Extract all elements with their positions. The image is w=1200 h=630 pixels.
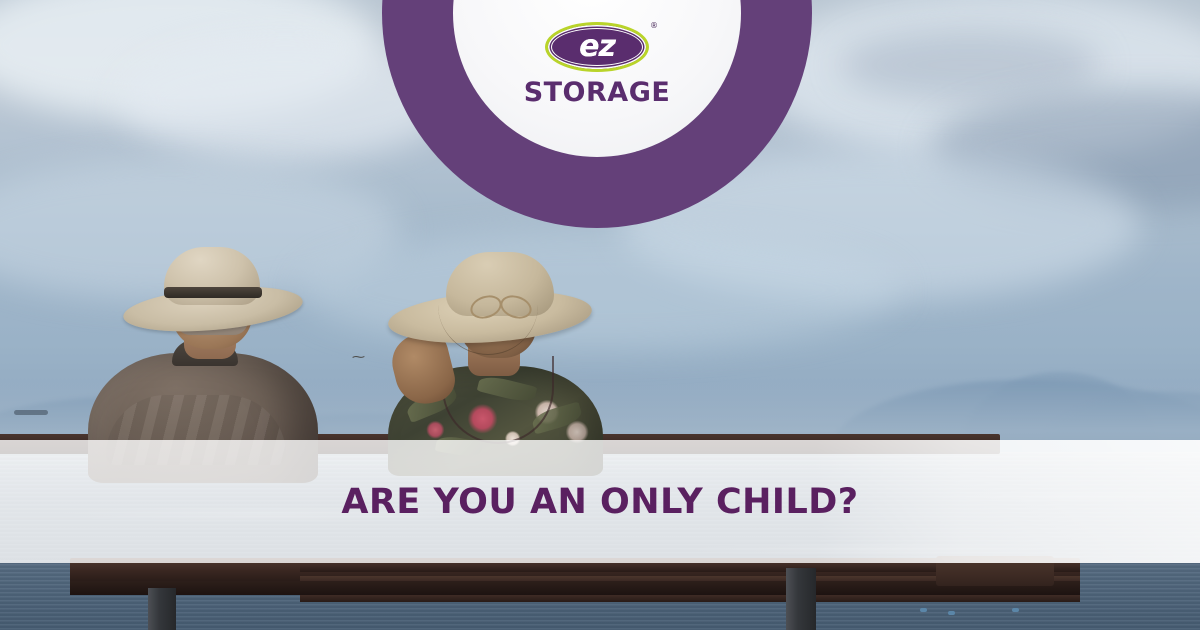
cloud-icon — [760, 0, 1200, 160]
bench-leg — [786, 568, 816, 630]
man-hat-band — [164, 287, 262, 298]
bench-bolt — [948, 611, 955, 615]
bench-leg — [148, 588, 176, 630]
distant-boat — [14, 410, 48, 415]
headline-banner: ARE YOU AN ONLY CHILD? — [0, 440, 1200, 563]
cloud-icon — [0, 0, 380, 120]
cloud-icon — [840, 30, 1100, 100]
seagull-icon — [352, 352, 378, 361]
bench-bolt — [1012, 608, 1019, 612]
ez-logo-oval-icon: ez ® — [545, 22, 649, 72]
bench-seat-edge — [70, 581, 1080, 595]
cloud-icon — [930, 90, 1200, 210]
promo-banner-image: ez ® STORAGE ARE YOU AN ONLY CHILD? — [0, 0, 1200, 630]
ez-logo-mark: ez — [548, 29, 646, 64]
registered-trademark-icon: ® — [650, 21, 658, 30]
storage-wordmark: STORAGE — [497, 79, 697, 106]
elderly-woman — [382, 248, 632, 463]
headline-text: ARE YOU AN ONLY CHILD? — [341, 482, 858, 522]
ez-storage-logo[interactable]: ez ® STORAGE — [497, 22, 697, 106]
bench-bolt — [920, 608, 927, 612]
